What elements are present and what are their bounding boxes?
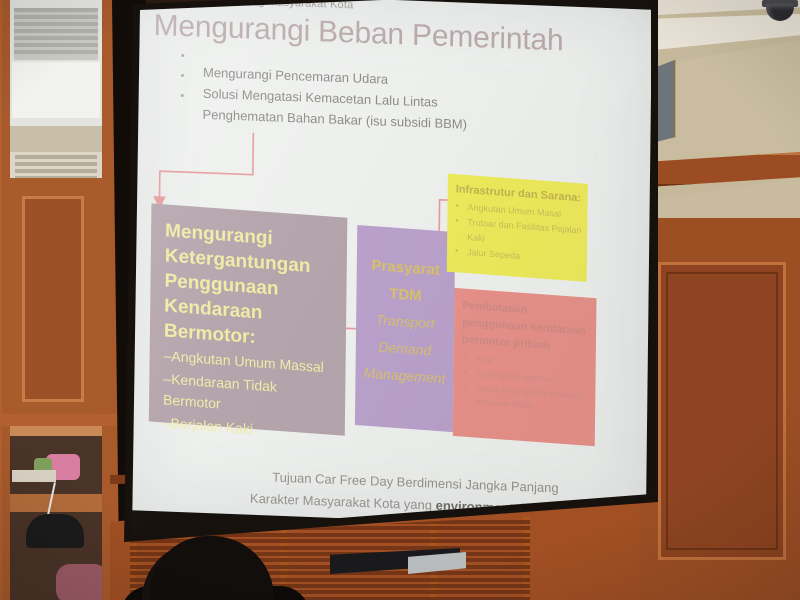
box-tdm[interactable]: Prasyarat TDM Transport Demand Managemen… [355,225,455,432]
wooden-door[interactable] [636,218,800,600]
left-door-frame [0,0,130,600]
security-camera-icon [762,0,798,22]
box-tdm-line2: TDM [389,285,422,304]
projection-screen[interactable]: Building Masyarakat Kota Mengurangi Beba… [118,0,658,570]
box-reduce-dependence[interactable]: Mengurangi Ketergantungan Penggunaan Ken… [149,203,348,435]
box-main-heading: Mengurangi Ketergantungan Penggunaan Ken… [164,218,335,355]
presentation-slide: Building Masyarakat Kota Mengurangi Beba… [126,0,652,530]
reflection-room-desk [10,436,102,600]
reflection-seat [56,564,102,600]
reflection-light-glow [12,62,100,118]
reflection-chair [26,514,84,548]
left-door-rail [2,414,120,426]
reflection-blinds [14,8,98,60]
box-tdm-expansion: Transport Demand Management [355,305,454,393]
reflection-wood-door [10,178,102,418]
box-tdm-line1: Prasyarat [371,257,440,279]
camera-dome [766,4,794,21]
box-infrastructure[interactable]: Infrastrutur dan Sarana: Angkutan Umum M… [447,174,588,282]
reflection-ceiling [10,0,102,130]
box-vehicle-restriction[interactable]: Pembatasan penggunaan kendaraan bermotor… [453,288,597,446]
reflection-desk [10,494,102,512]
box-restrict-heading: Pembatasan penggunaan kendaraan bermotor… [454,288,597,361]
conference-room-photo: Building Masyarakat Kota Mengurangi Beba… [0,0,800,600]
reflection-white-object [12,470,56,482]
reflection-vent [10,152,102,180]
mirror-glass-panel [10,0,102,600]
